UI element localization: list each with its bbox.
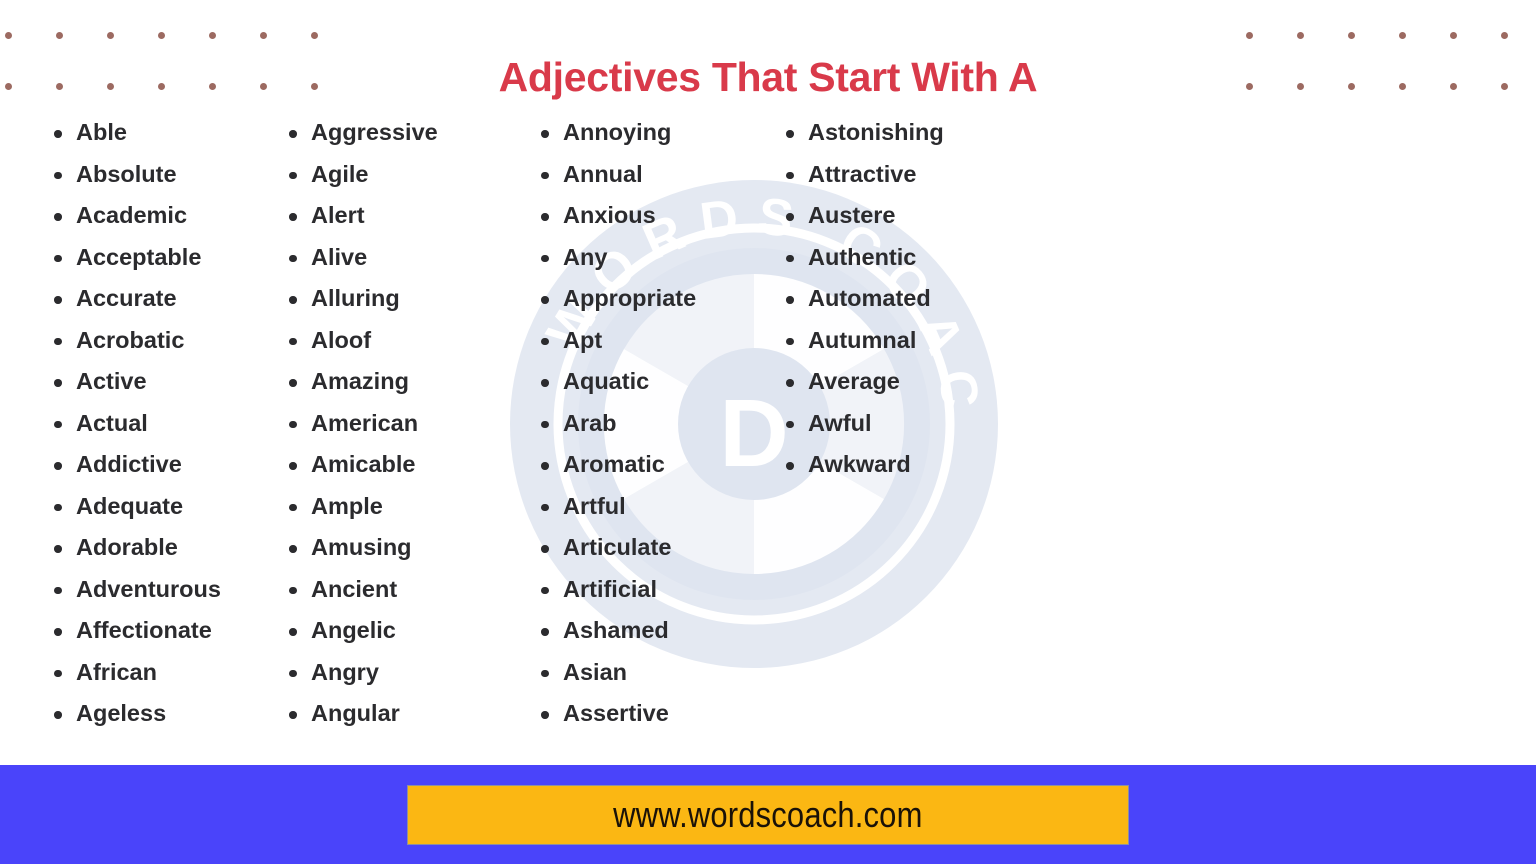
word-list-item: Average: [782, 361, 1000, 403]
footer-bar: www.wordscoach.com: [0, 765, 1536, 864]
word-list-item: Ancient: [285, 569, 495, 611]
word-list-item: Automated: [782, 278, 1000, 320]
decorative-dot: [1246, 83, 1253, 90]
word-list-item: Affectionate: [50, 610, 240, 652]
word-list-item: Arab: [537, 403, 740, 445]
word-column-2: AggressiveAgileAlertAliveAlluringAloofAm…: [240, 112, 495, 735]
decorative-dot: [311, 32, 318, 39]
word-list-item: Asian: [537, 652, 740, 694]
decorative-dot: [1450, 83, 1457, 90]
word-list-item: Accurate: [50, 278, 240, 320]
decorative-dot-grid-right: [1246, 32, 1508, 90]
word-list-item: Aloof: [285, 320, 495, 362]
word-list-item: Austere: [782, 195, 1000, 237]
decorative-dot: [107, 32, 114, 39]
word-list-item: Able: [50, 112, 240, 154]
word-list-item: Assertive: [537, 693, 740, 735]
decorative-dot: [158, 32, 165, 39]
word-list-item: Ashamed: [537, 610, 740, 652]
decorative-dot: [1297, 83, 1304, 90]
decorative-dot: [1501, 83, 1508, 90]
decorative-dot: [1297, 32, 1304, 39]
decorative-dot: [209, 32, 216, 39]
word-list-item: Awful: [782, 403, 1000, 445]
word-list-item: Alluring: [285, 278, 495, 320]
word-list-item: Articulate: [537, 527, 740, 569]
word-list-item: Angelic: [285, 610, 495, 652]
word-list-item: Ageless: [50, 693, 240, 735]
word-list-item: Autumnal: [782, 320, 1000, 362]
word-list-item: Active: [50, 361, 240, 403]
word-list-item: Aromatic: [537, 444, 740, 486]
word-list-item: Awkward: [782, 444, 1000, 486]
word-list-item: Astonishing: [782, 112, 1000, 154]
word-list-item: Angular: [285, 693, 495, 735]
word-list-item: Angry: [285, 652, 495, 694]
word-column-3: AnnoyingAnnualAnxiousAnyAppropriateAptAq…: [495, 112, 740, 735]
word-column-4: AstonishingAttractiveAustereAuthenticAut…: [740, 112, 1000, 486]
word-list-item: Adequate: [50, 486, 240, 528]
word-list-item: Academic: [50, 195, 240, 237]
decorative-dot: [1246, 32, 1253, 39]
adjectives-columns: AbleAbsoluteAcademicAcceptableAccurateAc…: [0, 112, 1536, 735]
word-list-item: Absolute: [50, 154, 240, 196]
word-list-item: Ample: [285, 486, 495, 528]
word-list-item: Amusing: [285, 527, 495, 569]
word-list-item: Anxious: [537, 195, 740, 237]
word-list-item: Annoying: [537, 112, 740, 154]
decorative-dot: [1399, 83, 1406, 90]
word-list-item: Adorable: [50, 527, 240, 569]
page-header: Adjectives That Start With A: [0, 0, 1536, 112]
word-list-item: Actual: [50, 403, 240, 445]
word-list-item: American: [285, 403, 495, 445]
word-list-item: Alert: [285, 195, 495, 237]
word-list-item: Amazing: [285, 361, 495, 403]
word-list-item: Aggressive: [285, 112, 495, 154]
decorative-dot: [56, 32, 63, 39]
decorative-dot: [260, 32, 267, 39]
word-list-item: Addictive: [50, 444, 240, 486]
word-list-item: African: [50, 652, 240, 694]
word-list-item: Acrobatic: [50, 320, 240, 362]
word-list-item: Artful: [537, 486, 740, 528]
word-column-1: AbleAbsoluteAcademicAcceptableAccurateAc…: [0, 112, 240, 735]
word-list-item: Aquatic: [537, 361, 740, 403]
word-list-item: Authentic: [782, 237, 1000, 279]
word-list-item: Artificial: [537, 569, 740, 611]
decorative-dot: [1348, 32, 1355, 39]
website-url-box[interactable]: www.wordscoach.com: [407, 785, 1129, 845]
word-list-item: Attractive: [782, 154, 1000, 196]
website-url-text: www.wordscoach.com: [613, 794, 922, 836]
word-list-item: Amicable: [285, 444, 495, 486]
word-list-item: Annual: [537, 154, 740, 196]
word-list-item: Acceptable: [50, 237, 240, 279]
decorative-dot: [1450, 32, 1457, 39]
word-list-item: Alive: [285, 237, 495, 279]
word-list-item: Adventurous: [50, 569, 240, 611]
decorative-dot: [1348, 83, 1355, 90]
word-list-item: Any: [537, 237, 740, 279]
decorative-dot: [1399, 32, 1406, 39]
word-list-item: Agile: [285, 154, 495, 196]
word-list-item: Appropriate: [537, 278, 740, 320]
decorative-dot: [1501, 32, 1508, 39]
decorative-dot: [5, 32, 12, 39]
word-list-item: Apt: [537, 320, 740, 362]
